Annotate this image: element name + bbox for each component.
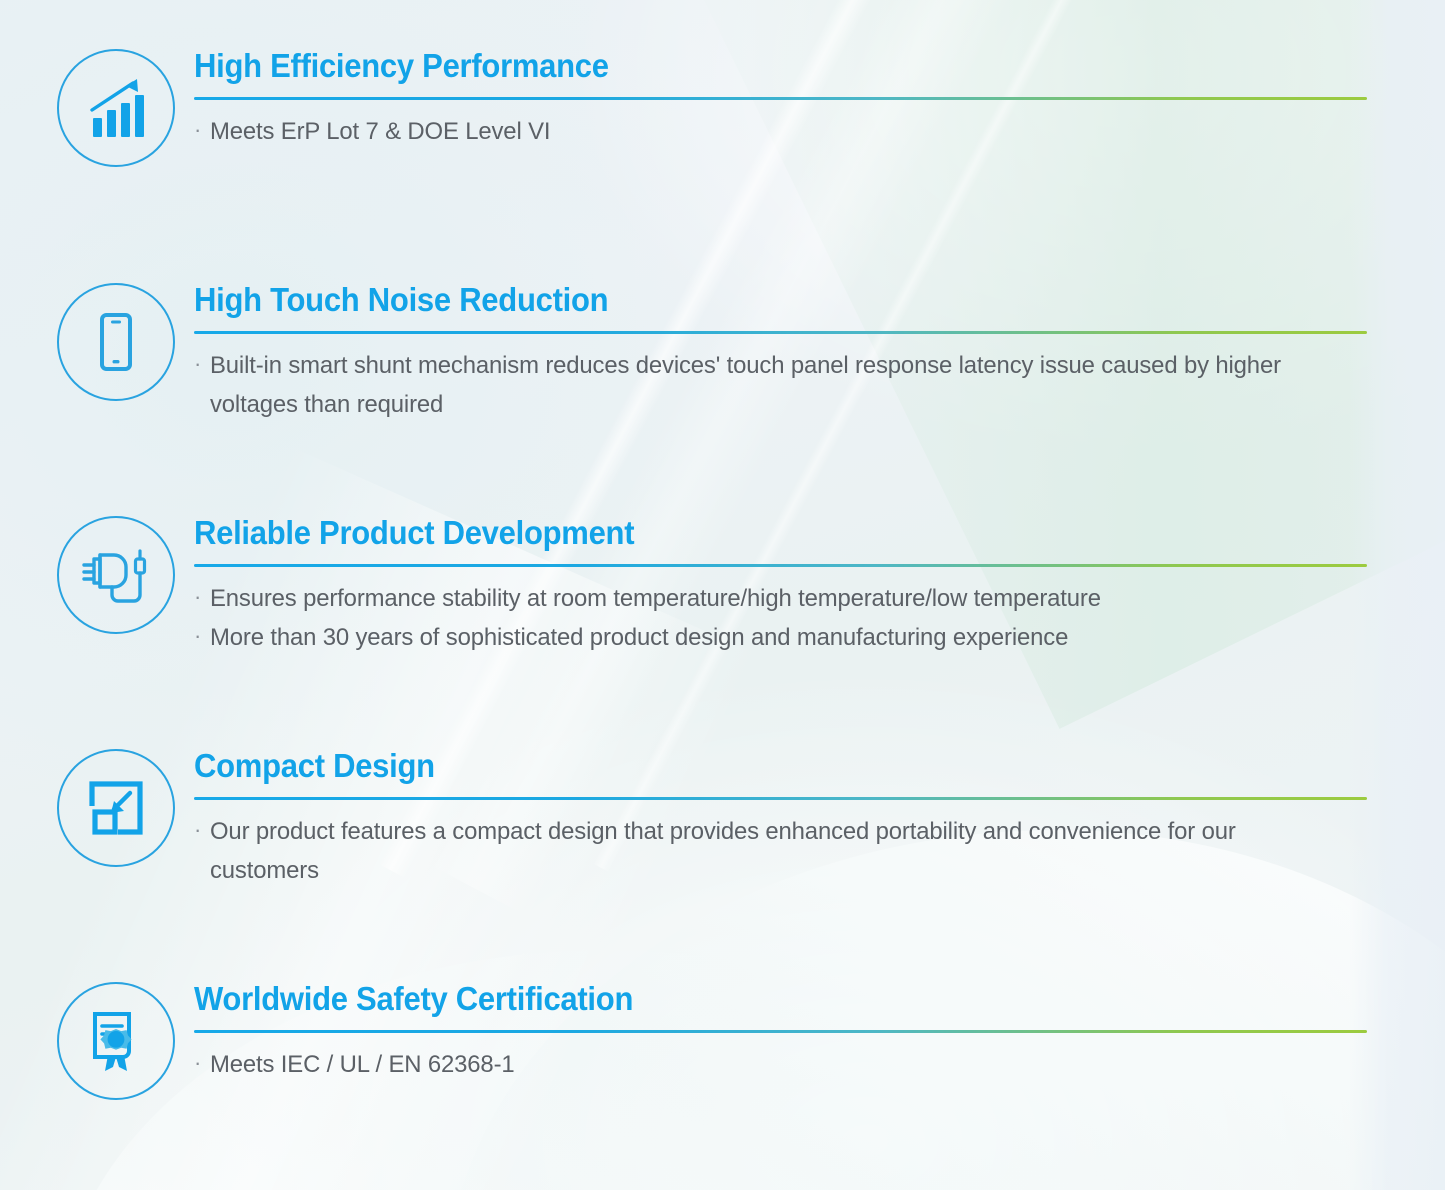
bullet-text: Meets ErP Lot 7 & DOE Level VI	[210, 113, 1338, 152]
feature-icon-wrapper	[52, 511, 180, 639]
feature-divider	[194, 97, 1367, 100]
bar-chart-growth-icon	[57, 49, 175, 167]
feature-body: Worldwide Safety Certification · Meets I…	[194, 977, 1367, 1085]
feature-bullet: · More than 30 years of sophisticated pr…	[194, 619, 1367, 658]
feature-body: Compact Design · Our product features a …	[194, 744, 1367, 890]
bullet-text: Our product features a compact design th…	[210, 813, 1338, 890]
feature-icon-wrapper	[52, 44, 180, 172]
feature-body: Reliable Product Development · Ensures p…	[194, 511, 1367, 657]
feature-title: High Touch Noise Reduction	[194, 282, 1297, 319]
bullet-text: Ensures performance stability at room te…	[210, 580, 1338, 619]
bullet-marker-icon: ·	[194, 813, 210, 848]
bullet-text: Meets IEC / UL / EN 62368-1	[210, 1046, 1338, 1085]
feature-item: Reliable Product Development · Ensures p…	[52, 511, 1367, 657]
feature-bullet: · Built-in smart shunt mechanism reduces…	[194, 347, 1367, 424]
feature-icon-wrapper	[52, 744, 180, 872]
feature-bullets: · Our product features a compact design …	[194, 813, 1367, 890]
compact-resize-icon	[57, 749, 175, 867]
feature-icon-wrapper	[52, 977, 180, 1105]
feature-divider	[194, 1030, 1367, 1033]
feature-divider	[194, 331, 1367, 334]
feature-bullets: · Built-in smart shunt mechanism reduces…	[194, 347, 1367, 424]
feature-item: High Touch Noise Reduction · Built-in sm…	[52, 278, 1367, 424]
feature-title: Compact Design	[194, 748, 1297, 785]
feature-bullet: · Ensures performance stability at room …	[194, 580, 1367, 619]
bullet-text: Built-in smart shunt mechanism reduces d…	[210, 347, 1338, 424]
feature-item: Worldwide Safety Certification · Meets I…	[52, 977, 1367, 1105]
feature-bullets: · Meets IEC / UL / EN 62368-1	[194, 1046, 1367, 1085]
feature-title: High Efficiency Performance	[194, 48, 1297, 85]
feature-icon-wrapper	[52, 278, 180, 406]
certificate-seal-icon	[57, 982, 175, 1100]
bullet-marker-icon: ·	[194, 619, 210, 654]
power-adapter-icon	[57, 516, 175, 634]
bullet-marker-icon: ·	[194, 1046, 210, 1081]
bullet-marker-icon: ·	[194, 580, 210, 615]
feature-list-page: High Efficiency Performance · Meets ErP …	[0, 0, 1445, 1190]
feature-bullet: · Meets IEC / UL / EN 62368-1	[194, 1046, 1367, 1085]
bullet-marker-icon: ·	[194, 113, 210, 148]
feature-divider	[194, 797, 1367, 800]
feature-body: High Efficiency Performance · Meets ErP …	[194, 44, 1367, 152]
bullet-text: More than 30 years of sophisticated prod…	[210, 619, 1338, 658]
feature-title: Reliable Product Development	[194, 515, 1297, 552]
feature-divider	[194, 564, 1367, 567]
smartphone-icon	[57, 283, 175, 401]
feature-item: High Efficiency Performance · Meets ErP …	[52, 44, 1367, 172]
feature-bullets: · Meets ErP Lot 7 & DOE Level VI	[194, 113, 1367, 152]
feature-body: High Touch Noise Reduction · Built-in sm…	[194, 278, 1367, 424]
feature-bullet: · Our product features a compact design …	[194, 813, 1367, 890]
feature-bullets: · Ensures performance stability at room …	[194, 580, 1367, 657]
feature-title: Worldwide Safety Certification	[194, 981, 1297, 1018]
feature-bullet: · Meets ErP Lot 7 & DOE Level VI	[194, 113, 1367, 152]
bullet-marker-icon: ·	[194, 347, 210, 382]
feature-item: Compact Design · Our product features a …	[52, 744, 1367, 890]
